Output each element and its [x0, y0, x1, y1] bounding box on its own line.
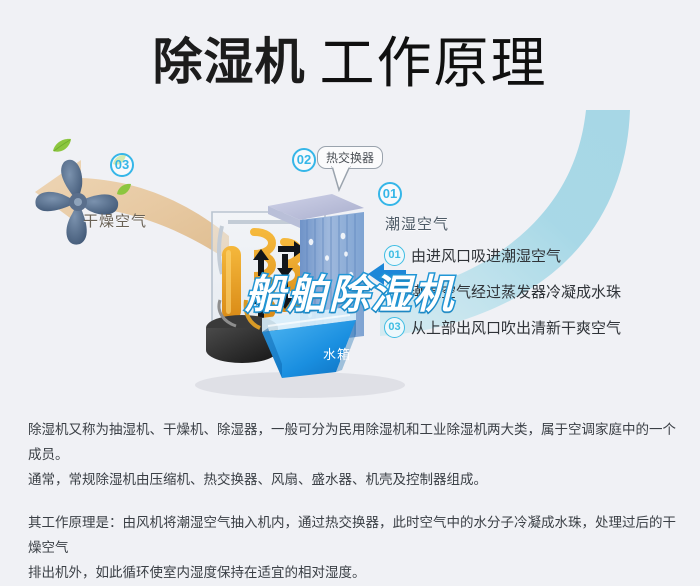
callout-tail-icon: [330, 166, 354, 192]
page-title-part1: 除湿机: [152, 33, 305, 91]
label-humid-air: 潮湿空气: [385, 213, 449, 234]
diagram-illustration: 03 02 01 热交换器 干燥空气 潮湿空气 水箱 01 由进风口吸进潮湿空气…: [0, 110, 700, 395]
page-title-part2: 工作原理: [319, 32, 547, 94]
step-number: 03: [384, 317, 405, 338]
page-title: 除湿机工作原理: [0, 18, 700, 98]
badge-03: 03: [110, 153, 134, 177]
paragraph-1-line-1: 除湿机又称为抽湿机、干燥机、除湿器，一般可分为民用除湿机和工业除湿机两大类，属于…: [28, 418, 680, 468]
paragraph-1-line-2: 通常，常规除湿机由压缩机、热交换器、风扇、盛水器、机壳及控制器组成。: [28, 468, 680, 493]
badge-02: 02: [292, 148, 316, 172]
watermark-text: 船舶除湿机: [0, 262, 700, 320]
step-item: 03 从上部出风口吹出清新干爽空气: [384, 317, 694, 338]
label-water-tank: 水箱: [323, 344, 351, 363]
paragraph-2-line-2: 排出机外，如此循环使室内湿度保持在适宜的相对湿度。: [28, 561, 680, 586]
badge-01: 01: [378, 182, 402, 206]
paragraph-2-line-1: 其工作原理是：由风机将潮湿空气抽入机内，通过热交换器，此时空气中的水分子冷凝成水…: [28, 511, 680, 561]
label-dry-air: 干燥空气: [83, 210, 147, 231]
body-copy: 除湿机又称为抽湿机、干燥机、除湿器，一般可分为民用除湿机和工业除湿机两大类，属于…: [28, 418, 680, 586]
step-text: 从上部出风口吹出清新干爽空气: [411, 317, 621, 338]
